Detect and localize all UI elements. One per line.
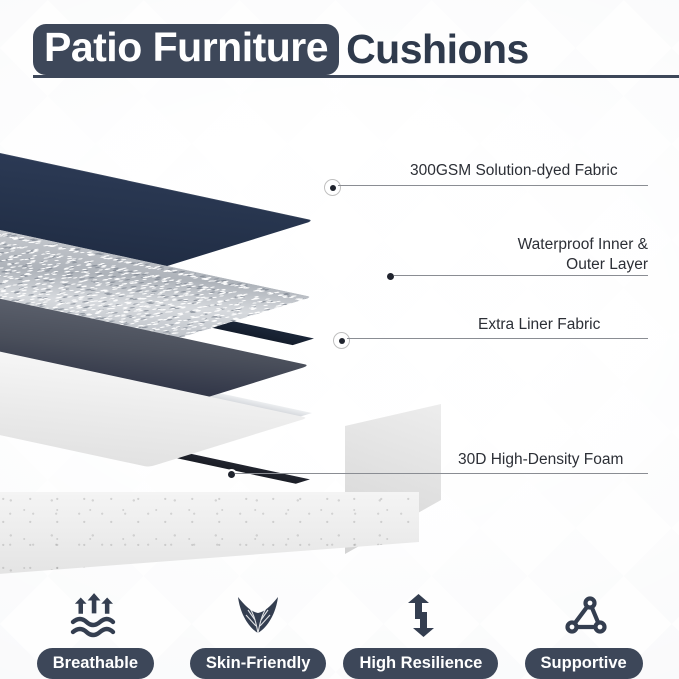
- feature-label-supportive[interactable]: Supportive: [525, 648, 643, 679]
- up-down-arrows-icon: [393, 593, 449, 639]
- feature-breathable[interactable]: Breathable: [20, 593, 170, 679]
- feather-icon: [230, 593, 286, 639]
- page-header: Patio Furniture Cushions: [0, 0, 679, 92]
- callout-dot-fabric: [325, 180, 340, 195]
- callout-label-waterproof-line2: Outer Layer: [348, 254, 648, 275]
- exploded-cushion-illustration: 300GSM Solution-dyed Fabric Waterproof I…: [0, 92, 679, 555]
- feature-high-resilience[interactable]: High Resilience: [346, 593, 496, 679]
- title-underline-rule: [33, 75, 679, 78]
- feature-supportive[interactable]: Supportive: [509, 593, 659, 679]
- feature-skin-friendly[interactable]: Skin-Friendly: [183, 593, 333, 679]
- feature-label-breathable[interactable]: Breathable: [37, 648, 154, 679]
- callout-line-waterproof: [394, 275, 648, 276]
- callout-label-liner: Extra Liner Fabric: [478, 314, 600, 335]
- feature-label-skin-friendly[interactable]: Skin-Friendly: [190, 648, 327, 679]
- foam-top-face: [0, 340, 308, 467]
- callout-label-fabric: 300GSM Solution-dyed Fabric: [410, 160, 618, 181]
- layer-high-density-foam-block: [0, 340, 446, 560]
- infographic-page: Patio Furniture Cushions 300GSM Solution…: [0, 0, 679, 679]
- triangle-nodes-icon: [556, 593, 612, 639]
- callout-label-waterproof-line1: Waterproof Inner &: [348, 234, 648, 255]
- page-title: Patio Furniture Cushions: [33, 24, 529, 75]
- breathable-arrows-waves-icon: [67, 593, 123, 639]
- callout-dot-foam: [226, 469, 237, 480]
- callout-line-fabric: [338, 185, 648, 186]
- callout-line-foam: [235, 473, 648, 474]
- callout-dot-liner: [334, 333, 349, 348]
- title-badge-highlight: Patio Furniture: [33, 24, 339, 75]
- callout-line-liner: [347, 338, 648, 339]
- callout-label-foam: 30D High-Density Foam: [458, 449, 623, 470]
- feature-badge-row: Breathable Skin-Friendly: [0, 555, 679, 679]
- title-plain-text: Cushions: [339, 28, 529, 71]
- feature-label-high-resilience[interactable]: High Resilience: [343, 648, 498, 679]
